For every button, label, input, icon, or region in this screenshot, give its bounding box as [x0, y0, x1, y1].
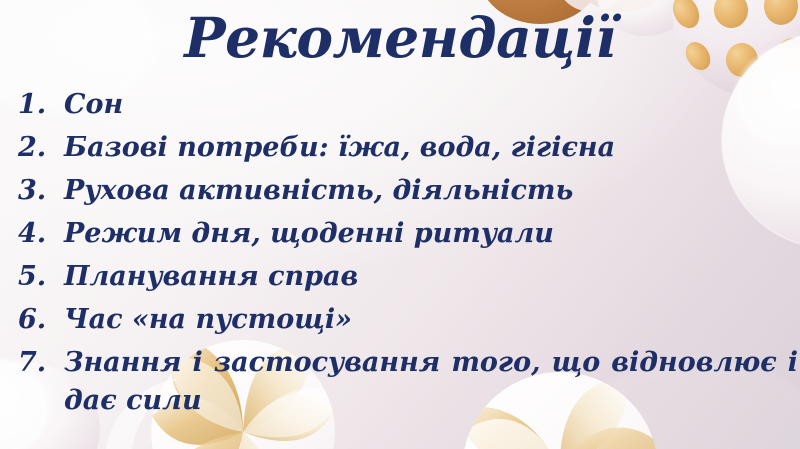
list-item: 2. Базові потреби: їжа, вода, гігієна: [18, 129, 800, 167]
list-item-number: 5.: [18, 258, 64, 296]
recommendations-list: 1. Сон 2. Базові потреби: їжа, вода, гіг…: [18, 86, 800, 425]
list-item-text: Сон: [64, 86, 800, 124]
list-item-number: 6.: [18, 301, 64, 339]
list-item-number: 7.: [18, 344, 64, 382]
list-item: 6. Час «на пустощі»: [18, 301, 800, 339]
slide-title: Рекомендації: [0, 10, 800, 65]
list-item-text: Базові потреби: їжа, вода, гігієна: [64, 129, 800, 167]
slide-content: Рекомендації 1. Сон 2. Базові потреби: ї…: [0, 0, 800, 449]
list-item-number: 3.: [18, 172, 64, 210]
list-item: 3. Рухова активність, діяльність: [18, 172, 800, 210]
presentation-slide: Рекомендації 1. Сон 2. Базові потреби: ї…: [0, 0, 800, 449]
list-item: 5. Планування справ: [18, 258, 800, 296]
list-item-number: 1.: [18, 86, 64, 124]
list-item-text: Планування справ: [64, 258, 800, 296]
list-item-number: 4.: [18, 215, 64, 253]
list-item: 7. Знання і застосування того, що віднов…: [18, 344, 800, 420]
list-item-text: Час «на пустощі»: [64, 301, 800, 339]
list-item-text: Знання і застосування того, що відновлює…: [64, 344, 800, 420]
list-item-text: Рухова активність, діяльність: [64, 172, 800, 210]
list-item-number: 2.: [18, 129, 64, 167]
list-item-text: Режим дня, щоденні ритуали: [64, 215, 800, 253]
list-item: 1. Сон: [18, 86, 800, 124]
list-item: 4. Режим дня, щоденні ритуали: [18, 215, 800, 253]
